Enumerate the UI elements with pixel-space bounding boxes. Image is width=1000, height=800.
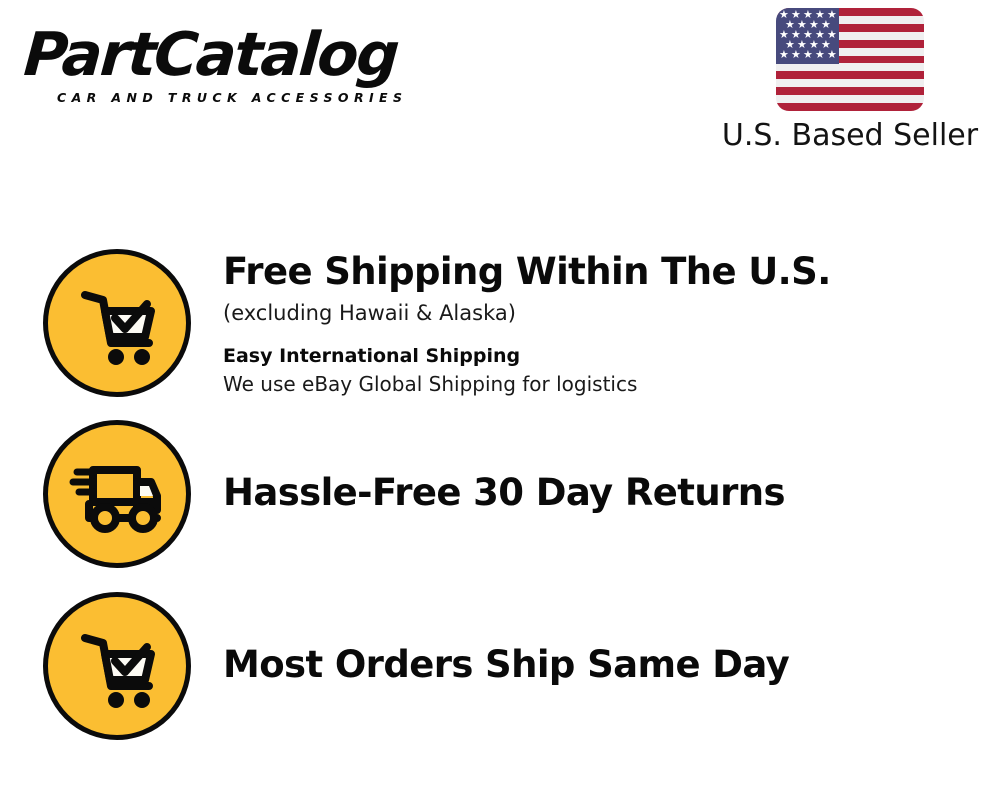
feature-list: Free Shipping Within The U.S. (excluding… [0, 0, 1000, 800]
feature-secondary-title: Easy International Shipping [223, 343, 963, 369]
feature-text-block: Most Orders Ship Same Day [223, 644, 963, 686]
feature-title: Free Shipping Within The U.S. [223, 251, 963, 293]
feature-secondary-subtitle: We use eBay Global Shipping for logistic… [223, 371, 963, 398]
feature-subtitle: (excluding Hawaii & Alaska) [223, 299, 963, 327]
feature-title: Most Orders Ship Same Day [223, 644, 963, 686]
feature-title: Hassle-Free 30 Day Returns [223, 472, 963, 514]
feature-text-block: Hassle-Free 30 Day Returns [223, 472, 963, 514]
shopping-cart-check-icon [43, 249, 191, 397]
feature-text-block: Free Shipping Within The U.S. (excluding… [223, 251, 963, 398]
delivery-truck-icon [43, 420, 191, 568]
shopping-cart-check-icon [43, 592, 191, 740]
